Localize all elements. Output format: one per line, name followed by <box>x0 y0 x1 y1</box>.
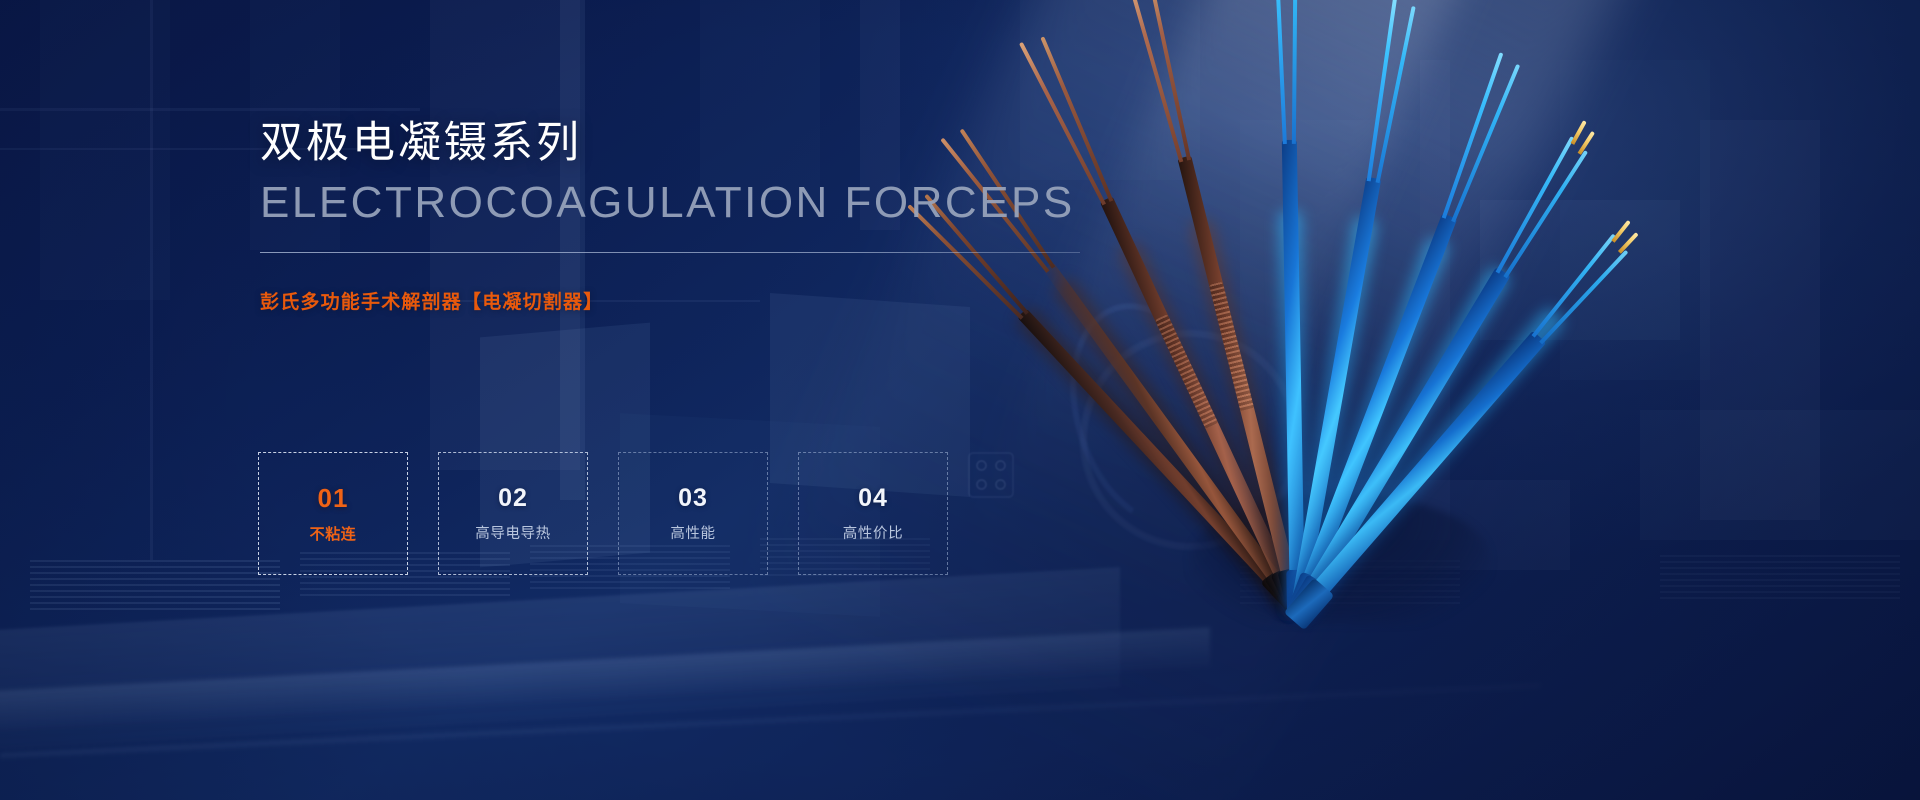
feature-box-03[interactable]: 03 高性能 <box>618 452 768 575</box>
product-image-forceps <box>1040 30 1600 610</box>
feature-number: 02 <box>498 486 528 511</box>
feature-number: 04 <box>858 486 888 511</box>
feature-label: 高导电导热 <box>475 527 551 542</box>
feature-label: 高性能 <box>670 527 715 542</box>
page-title: 双极电凝镊系列 <box>260 120 1090 166</box>
product-tagline: 彭氏多功能手术解剖器【电凝切割器】 <box>260 287 1090 314</box>
feature-list: 01 不粘连 02 高导电导热 03 高性能 04 高性价比 <box>258 452 948 575</box>
feature-box-01[interactable]: 01 不粘连 <box>258 452 408 575</box>
feature-box-04[interactable]: 04 高性价比 <box>798 452 948 575</box>
feature-number: 01 <box>318 485 349 511</box>
page-subtitle-en: ELECTROCOAGULATION FORCEPS <box>260 180 1090 226</box>
product-banner: 双极电凝镊系列 ELECTROCOAGULATION FORCEPS 彭氏多功能… <box>0 0 1920 800</box>
feature-box-02[interactable]: 02 高导电导热 <box>438 452 588 575</box>
feature-number: 03 <box>678 486 708 511</box>
divider <box>260 252 1080 253</box>
feature-label: 不粘连 <box>310 527 357 542</box>
feature-label: 高性价比 <box>843 527 903 542</box>
banner-copy: 双极电凝镊系列 ELECTROCOAGULATION FORCEPS 彭氏多功能… <box>260 120 1090 314</box>
